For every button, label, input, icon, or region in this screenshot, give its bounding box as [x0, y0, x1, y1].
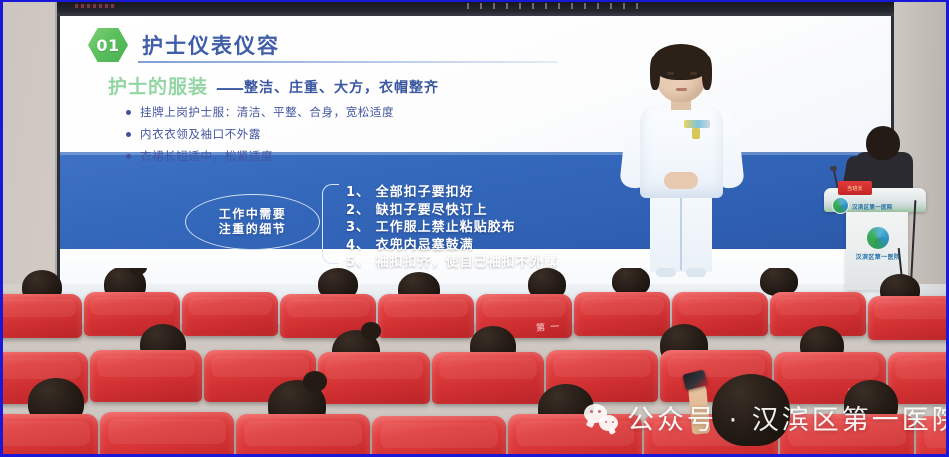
podium-red-sign: 当班长	[838, 181, 872, 195]
bezel-indicator-left	[75, 4, 115, 8]
seat: 区 第 一 医	[100, 412, 234, 457]
presenter-eye-right	[690, 72, 697, 75]
host-hair	[866, 126, 900, 160]
hexagon-shape: 01	[88, 28, 128, 62]
sub-heading-blue-text: 整洁、庄重、大方，衣帽整齐	[244, 77, 439, 97]
bullet-dot-icon	[126, 154, 131, 159]
presenter-mouth	[676, 88, 687, 91]
presenter-nurse	[612, 48, 752, 283]
list-item: 2、 缺扣子要尽快订上	[346, 202, 558, 220]
list-item: 挂牌上岗护士服：清洁、平整、合身，宽松适度	[126, 104, 394, 120]
list-item: 衣裙长短适中，松紧适度	[126, 148, 394, 164]
list-item: 内衣衣领及袖口不外露	[126, 126, 394, 142]
seat	[236, 414, 370, 457]
presenter-hair-side-right	[702, 56, 712, 90]
section-number-label: 01	[96, 36, 119, 55]
hospital-logo-icon	[866, 226, 890, 250]
seat	[90, 350, 202, 402]
bullet-dot-icon	[126, 110, 131, 115]
callout-oval: 工作中需要 注重的细节	[185, 194, 320, 250]
screen-top-bezel	[57, 0, 894, 16]
seat	[868, 296, 949, 340]
numbered-detail-list: 1、 全部扣子要扣好 2、 缺扣子要尽快订上 3、 工作服上禁止粘贴胶布 4、 …	[346, 184, 558, 272]
presenter-hair-side-left	[650, 56, 660, 90]
slide-section-title: 护士仪表仪容	[142, 30, 280, 60]
list-item: 1、 全部扣子要扣好	[346, 184, 558, 202]
slide-sub-heading: 护士的服装 —— 整洁、庄重、大方，衣帽整齐	[108, 72, 439, 99]
title-underline	[138, 61, 558, 63]
seat	[888, 352, 949, 404]
podium-front-logo: 汉滨区第一医院	[858, 226, 898, 261]
seat	[0, 294, 82, 338]
wechat-bubble-small	[599, 415, 618, 431]
bezel-indicator-center	[467, 3, 647, 9]
seat	[378, 294, 474, 338]
podium-logo-text: 汉滨区第一医院	[852, 205, 893, 211]
wechat-dot	[590, 410, 593, 413]
bullet-text: 内衣衣领及袖口不外露	[140, 126, 261, 142]
presenter-eye-left	[667, 72, 674, 75]
section-number-badge: 01	[88, 28, 128, 62]
wechat-watermark: 公众号 · 汉滨区第一医院	[584, 398, 949, 437]
slide-bullet-list: 挂牌上岗护士服：清洁、平整、合身，宽松适度 内衣衣领及袖口不外露 衣裙长短适中，…	[126, 104, 394, 170]
seat	[318, 352, 430, 404]
list-item: 3、 工作服上禁止粘贴胶布	[346, 219, 558, 237]
seat-mark: 第 一	[536, 319, 561, 334]
seat-mark: 区 第 一 医	[165, 452, 218, 457]
microphone-icon	[830, 166, 837, 171]
watermark-text: 公众号 · 汉滨区第一医院	[627, 398, 949, 437]
wechat-dot	[612, 421, 614, 423]
podium-sign-label: 当班长	[847, 185, 863, 192]
seat	[182, 292, 278, 336]
video-frame: 01 护士仪表仪容 护士的服装 —— 整洁、庄重、大方，衣帽整齐 挂牌上岗护士服…	[0, 0, 949, 457]
presenter-leg-seam	[680, 198, 682, 270]
bullet-text: 挂牌上岗护士服：清洁、平整、合身，宽松适度	[140, 104, 394, 120]
wechat-dot	[598, 410, 601, 413]
callout-line-1: 工作中需要	[219, 207, 287, 222]
presenter-badge-tag	[692, 128, 700, 139]
list-item: 4、 衣兜内忌塞鼓满	[346, 237, 558, 255]
seat	[432, 352, 544, 404]
seat	[0, 414, 98, 457]
sub-heading-dash: ——	[216, 79, 242, 97]
bullet-dot-icon	[126, 132, 131, 137]
seat	[574, 292, 670, 336]
presenter-hands	[664, 172, 698, 189]
wechat-icon	[584, 404, 618, 431]
wechat-dot	[605, 421, 607, 423]
bullet-text: 衣裙长短适中，松紧适度	[140, 148, 273, 164]
presentation-slide: 01 护士仪表仪容 护士的服装 —— 整洁、庄重、大方，衣帽整齐 挂牌上岗护士服…	[60, 16, 891, 284]
sub-heading-green-text: 护士的服装	[108, 72, 208, 99]
presenter-name-badge	[684, 120, 710, 128]
callout-line-2: 注重的细节	[219, 222, 287, 237]
seat	[372, 416, 506, 457]
podium-front-text: 汉滨区第一医院	[856, 252, 901, 261]
curly-brace-icon	[322, 184, 339, 264]
